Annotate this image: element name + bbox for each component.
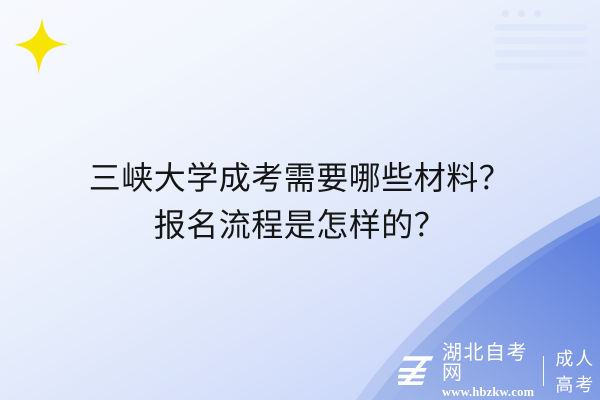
brand-text-block: 湖北自考网 www.hbzkw.com xyxy=(442,343,534,399)
mockup-dot-group xyxy=(495,10,588,17)
brand-tagline: 成人高考 xyxy=(555,345,600,397)
mockup-dot xyxy=(518,10,525,17)
brand-name: 湖北自考网 xyxy=(442,343,534,383)
hbzkw-z-logo-icon xyxy=(398,354,435,388)
brand-url: www.hbzkw.com xyxy=(442,386,534,399)
brand-lockup: 湖北自考网 www.hbzkw.com 成人高考 xyxy=(398,349,600,393)
page-title-line-2: 报名流程是怎样的？ xyxy=(0,202,600,249)
mockup-dot xyxy=(534,10,541,17)
brand-divider xyxy=(543,356,544,386)
mockup-line xyxy=(495,63,588,70)
mockup-line xyxy=(495,37,588,44)
mockup-dot xyxy=(502,10,509,17)
mockup-line xyxy=(495,50,588,57)
page-title-line-1: 三峡大学成考需要哪些材料？ xyxy=(0,155,600,202)
mockup-line xyxy=(495,24,588,31)
sparkle-star-icon xyxy=(12,16,70,76)
page-title: 三峡大学成考需要哪些材料？ 报名流程是怎样的？ xyxy=(0,155,600,249)
promo-banner: 三峡大学成考需要哪些材料？ 报名流程是怎样的？ 湖北自考网 www.hbzkw.… xyxy=(0,0,600,400)
window-mockup-icon xyxy=(495,10,588,68)
mockup-line-group xyxy=(495,24,588,70)
